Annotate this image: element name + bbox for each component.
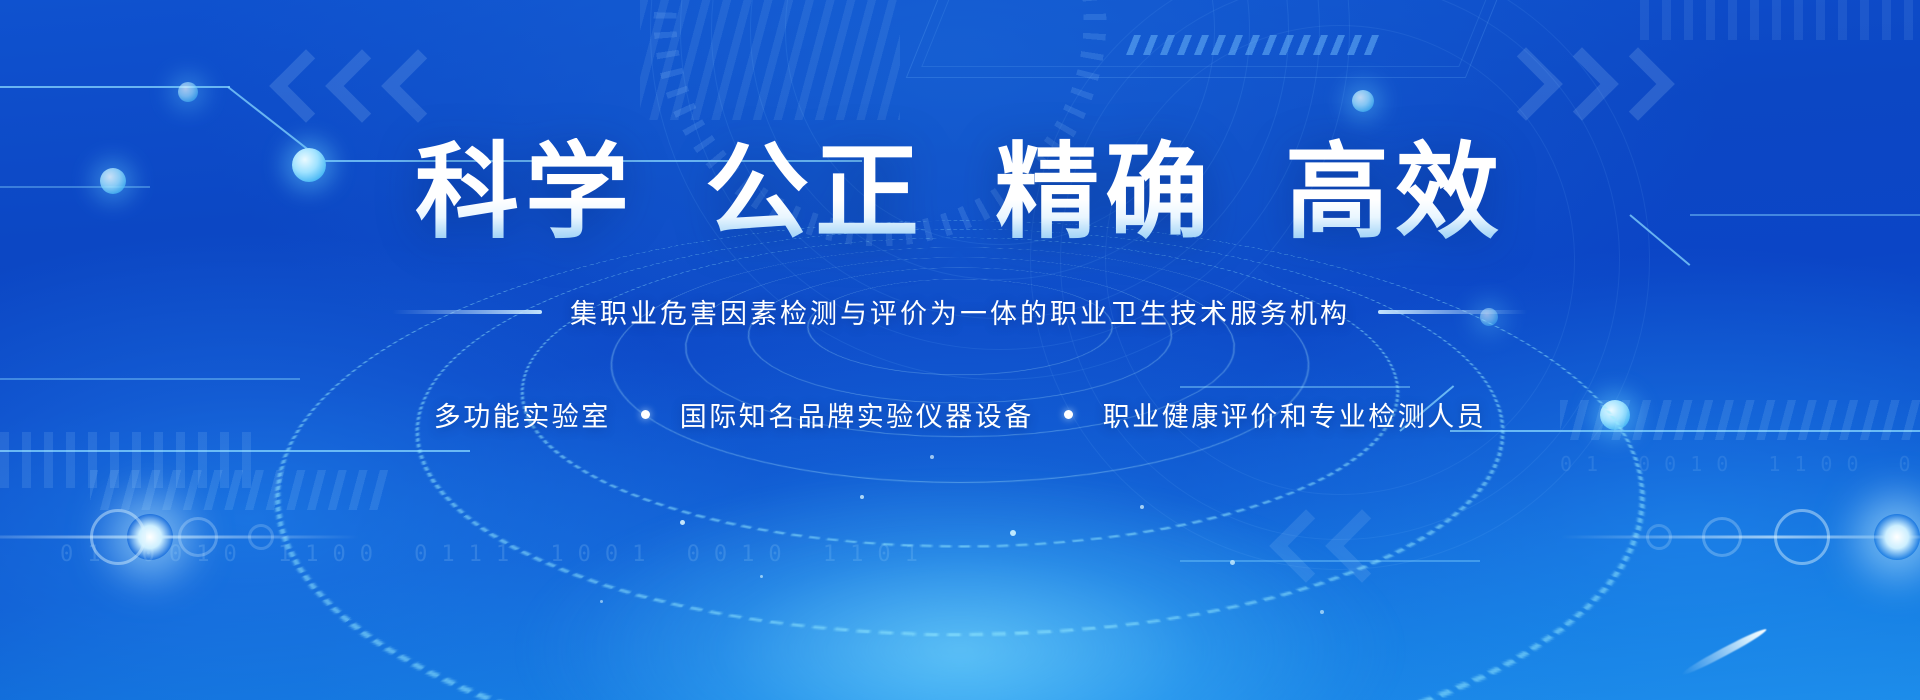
tag-separator-dot-icon [1064,410,1073,419]
headline-word-2: 公正 [705,138,925,248]
headline-word-3: 精确 [995,138,1215,248]
feature-tag-3: 职业健康评价和专业检测人员 [1103,395,1487,434]
feature-tag-row: 多功能实验室 国际知名品牌实验仪器设备 职业健康评价和专业检测人员 [434,395,1487,434]
tag-separator-dot-icon [641,410,650,419]
headline-word-4: 高效 [1285,138,1505,248]
headline-word-1: 科学 [415,138,635,248]
subtitle-row: 集职业危害因素检测与评价为一体的职业卫生技术服务机构 [392,292,1528,331]
feature-tag-1: 多功能实验室 [434,395,611,434]
subtitle-text: 集职业危害因素检测与评价为一体的职业卫生技术服务机构 [570,292,1350,331]
subtitle-rule-right [1378,310,1528,314]
feature-tag-2: 国际知名品牌实验仪器设备 [680,395,1034,434]
promo-banner: 01 0010 1100 0111 1001 0010 1101 01 0010… [0,0,1920,700]
headline: 科学 公正 精确 高效 [415,138,1505,248]
subtitle-rule-left [392,310,542,314]
banner-content: 科学 公正 精确 高效 集职业危害因素检测与评价为一体的职业卫生技术服务机构 多… [0,0,1920,700]
